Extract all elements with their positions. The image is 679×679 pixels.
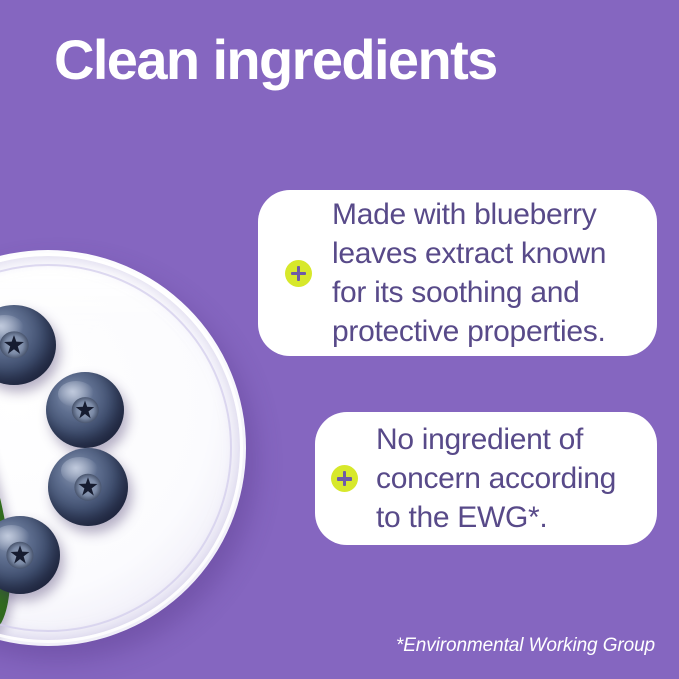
dish-outer-rim xyxy=(0,253,243,643)
feature-card-ingredients: Made with blueberry leaves extract known… xyxy=(258,190,657,356)
petri-dish xyxy=(0,250,246,646)
plus-icon xyxy=(331,465,358,492)
product-feature-panel: Clean ingredients xyxy=(0,0,679,679)
blueberry-petri-dish-photo xyxy=(0,250,260,650)
feature-card-ewg-text: No ingredient of concern according to th… xyxy=(376,420,616,537)
feature-card-ingredients-text: Made with blueberry leaves extract known… xyxy=(332,195,606,351)
page-title: Clean ingredients xyxy=(54,28,614,92)
feature-card-ewg: No ingredient of concern according to th… xyxy=(315,412,657,545)
footnote: *Environmental Working Group xyxy=(396,635,655,657)
plus-icon xyxy=(285,260,312,287)
plus-icon-vertical-bar xyxy=(343,471,347,486)
plus-icon-vertical-bar xyxy=(297,266,301,281)
